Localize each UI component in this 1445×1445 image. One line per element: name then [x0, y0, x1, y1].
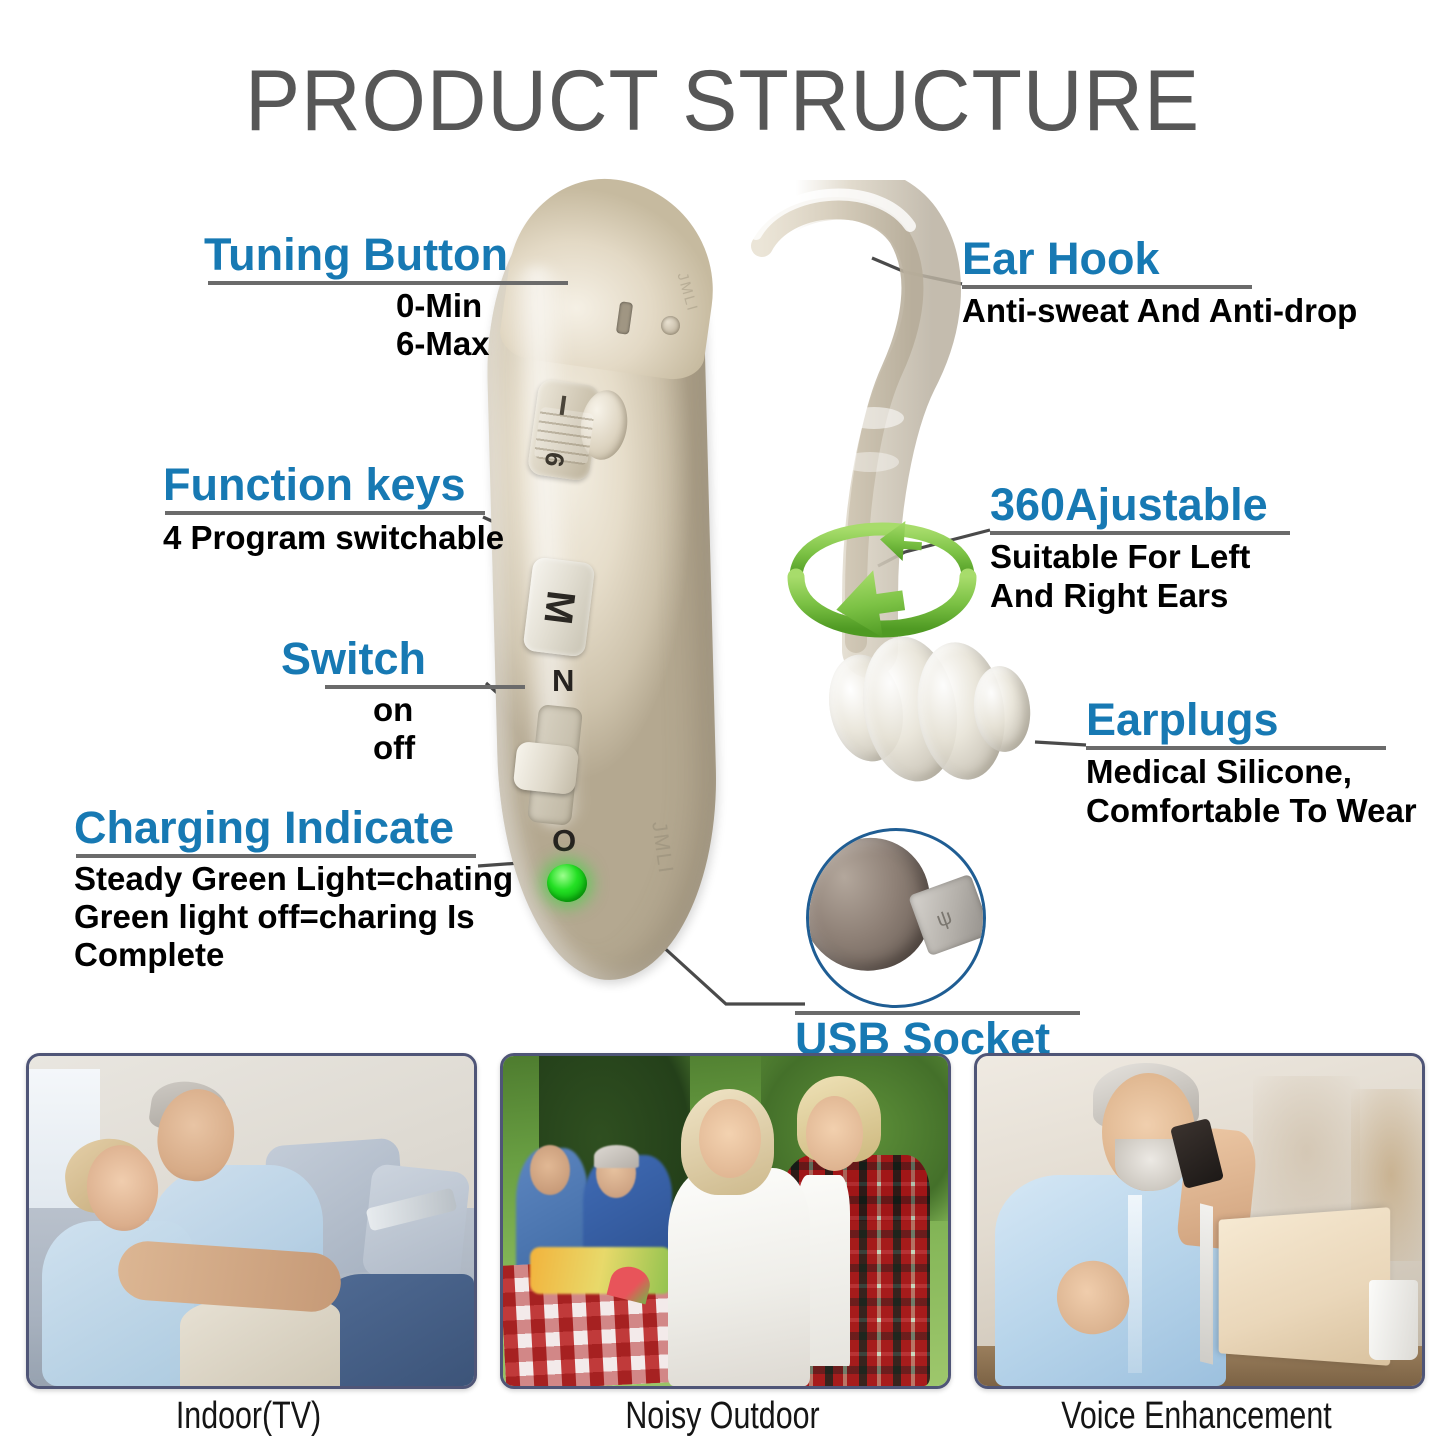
- product-structure-infographic: PRODUCT STRUCTURE JMLI JMLI: [0, 0, 1445, 1445]
- callout-switch-sub2: off: [373, 731, 525, 765]
- ear-hook-ring-upper: [844, 407, 904, 429]
- screw-icon: [661, 316, 680, 335]
- callout-function-keys-rule: [165, 511, 485, 515]
- callout-function-keys-sub1: 4 Program switchable: [163, 521, 504, 555]
- callout-switch-rule: [325, 685, 525, 689]
- rotation-arc-back: [796, 529, 968, 577]
- callout-ear-hook: Ear Hook Anti-sweat And Anti-drop: [962, 236, 1357, 328]
- callout-tuning-button-sub2: 6-Max: [396, 327, 568, 361]
- photo-scene-3: [977, 1056, 1422, 1386]
- callout-360-adjustable: 360Ajustable Suitable For Left And Right…: [990, 482, 1290, 613]
- callout-earplugs-sub2: Comfortable To Wear: [1086, 794, 1417, 828]
- callout-tuning-button-heading: Tuning Button: [204, 232, 568, 278]
- power-switch-on-mark: N: [552, 662, 574, 698]
- callout-charging-indicate-sub1: Steady Green Light=chating: [74, 862, 513, 896]
- function-key-label: M: [535, 588, 584, 627]
- callout-charging-indicate-sub2: Green light off=charing Is: [74, 900, 513, 934]
- callout-earplugs: Earplugs Medical Silicone, Comfortable T…: [1086, 697, 1417, 828]
- callout-charging-indicate: Charging Indicate Steady Green Light=cha…: [74, 805, 513, 972]
- earplug-dome: [826, 628, 1038, 788]
- callout-charging-indicate-sub3: Complete: [74, 938, 513, 972]
- callout-function-keys-heading: Function keys: [163, 462, 504, 508]
- photo-scene-1: [29, 1056, 474, 1386]
- callout-earplugs-sub1: Medical Silicone,: [1086, 755, 1417, 789]
- callout-360-adjustable-sub2: And Right Ears: [990, 579, 1290, 613]
- callout-ear-hook-sub1: Anti-sweat And Anti-drop: [962, 294, 1357, 328]
- use-case-caption-row: Indoor(TV) Noisy Outdoor Voice Enhanceme…: [0, 1395, 1445, 1445]
- callout-ear-hook-heading: Ear Hook: [962, 236, 1357, 282]
- caption-indoor-tv: Indoor(TV): [71, 1395, 427, 1438]
- callout-360-adjustable-sub1: Suitable For Left: [990, 540, 1290, 574]
- caption-noisy-outdoor: Noisy Outdoor: [545, 1395, 901, 1438]
- callout-earplugs-rule: [1086, 746, 1386, 750]
- callout-360-adjustable-heading: 360Ajustable: [990, 482, 1290, 528]
- callout-charging-indicate-rule: [76, 854, 476, 858]
- callout-function-keys: Function keys 4 Program switchable: [163, 462, 504, 555]
- callout-tuning-button-sub1: 0-Min: [396, 289, 568, 323]
- callout-switch-sub1: on: [373, 693, 525, 727]
- leader-earplugs: [1035, 742, 1086, 745]
- use-case-photo-row: [0, 1053, 1445, 1393]
- callout-360-adjustable-rule: [990, 531, 1290, 535]
- callout-switch: Switch on off: [281, 636, 525, 765]
- page-title: PRODUCT STRUCTURE: [29, 52, 1416, 151]
- photo-scene-2: [503, 1056, 948, 1386]
- callout-tuning-button: Tuning Button 0-Min 6-Max: [204, 232, 568, 361]
- function-key-m[interactable]: M: [523, 557, 596, 658]
- power-switch-off-mark: O: [552, 822, 576, 858]
- caption-voice-enhancement: Voice Enhancement: [1019, 1395, 1375, 1438]
- usb-socket-closeup-inset: ψ: [806, 828, 986, 1008]
- callout-ear-hook-rule: [962, 285, 1252, 289]
- callout-charging-indicate-heading: Charging Indicate: [74, 805, 513, 851]
- use-case-photo-noisy-outdoor: [500, 1053, 951, 1389]
- callout-switch-heading: Switch: [281, 636, 525, 682]
- use-case-photo-indoor-tv: [26, 1053, 477, 1389]
- ear-hook-ring-lower: [841, 452, 899, 472]
- callout-earplugs-heading: Earplugs: [1086, 697, 1417, 743]
- use-case-photo-voice-enhancement: [974, 1053, 1425, 1389]
- callout-tuning-button-rule: [208, 281, 568, 285]
